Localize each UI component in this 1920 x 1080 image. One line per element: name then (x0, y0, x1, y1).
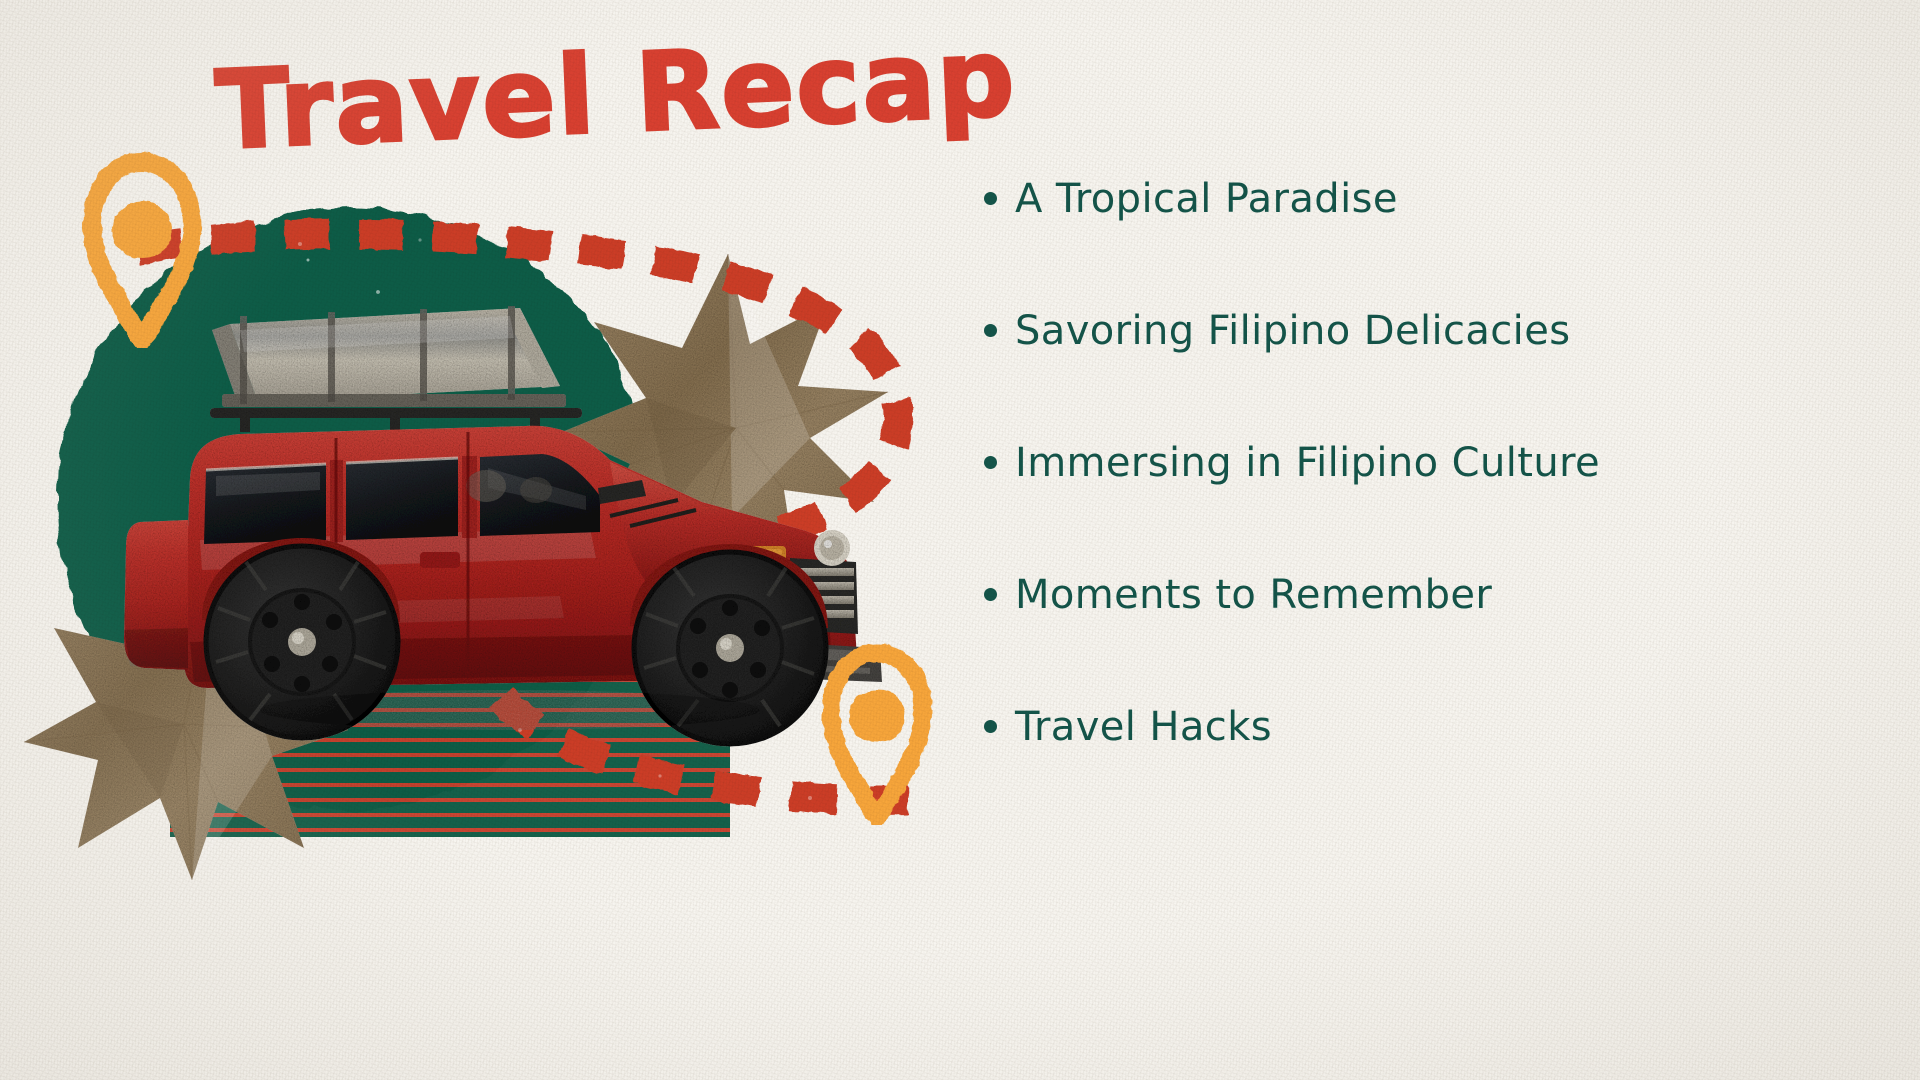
bullet-dot-icon (984, 456, 997, 469)
list-item[interactable]: Immersing in Filipino Culture (984, 440, 1864, 572)
list-item-label: Travel Hacks (1015, 704, 1272, 750)
agenda-list: A Tropical Paradise Savoring Filipino De… (984, 176, 1864, 836)
bullet-dot-icon (984, 324, 997, 337)
travel-recap-slide: 4x4 (0, 0, 1920, 1080)
list-item[interactable]: Moments to Remember (984, 572, 1864, 704)
list-item[interactable]: A Tropical Paradise (984, 176, 1864, 308)
bullet-dot-icon (984, 720, 997, 733)
list-item-label: A Tropical Paradise (1015, 176, 1398, 222)
bullet-dot-icon (984, 192, 997, 205)
page-title-text: Travel Recap (214, 25, 1019, 166)
list-item-label: Savoring Filipino Delicacies (1015, 308, 1570, 354)
list-item[interactable]: Travel Hacks (984, 704, 1864, 836)
location-pin-icon (78, 148, 206, 348)
list-item-label: Moments to Remember (1015, 572, 1492, 618)
vehicle-illustration: 4x4 (90, 290, 920, 790)
bullet-dot-icon (984, 588, 997, 601)
location-pin-icon (818, 640, 936, 825)
list-item[interactable]: Savoring Filipino Delicacies (984, 308, 1864, 440)
page-title: Travel Recap (214, 25, 1019, 166)
list-item-label: Immersing in Filipino Culture (1015, 440, 1600, 486)
